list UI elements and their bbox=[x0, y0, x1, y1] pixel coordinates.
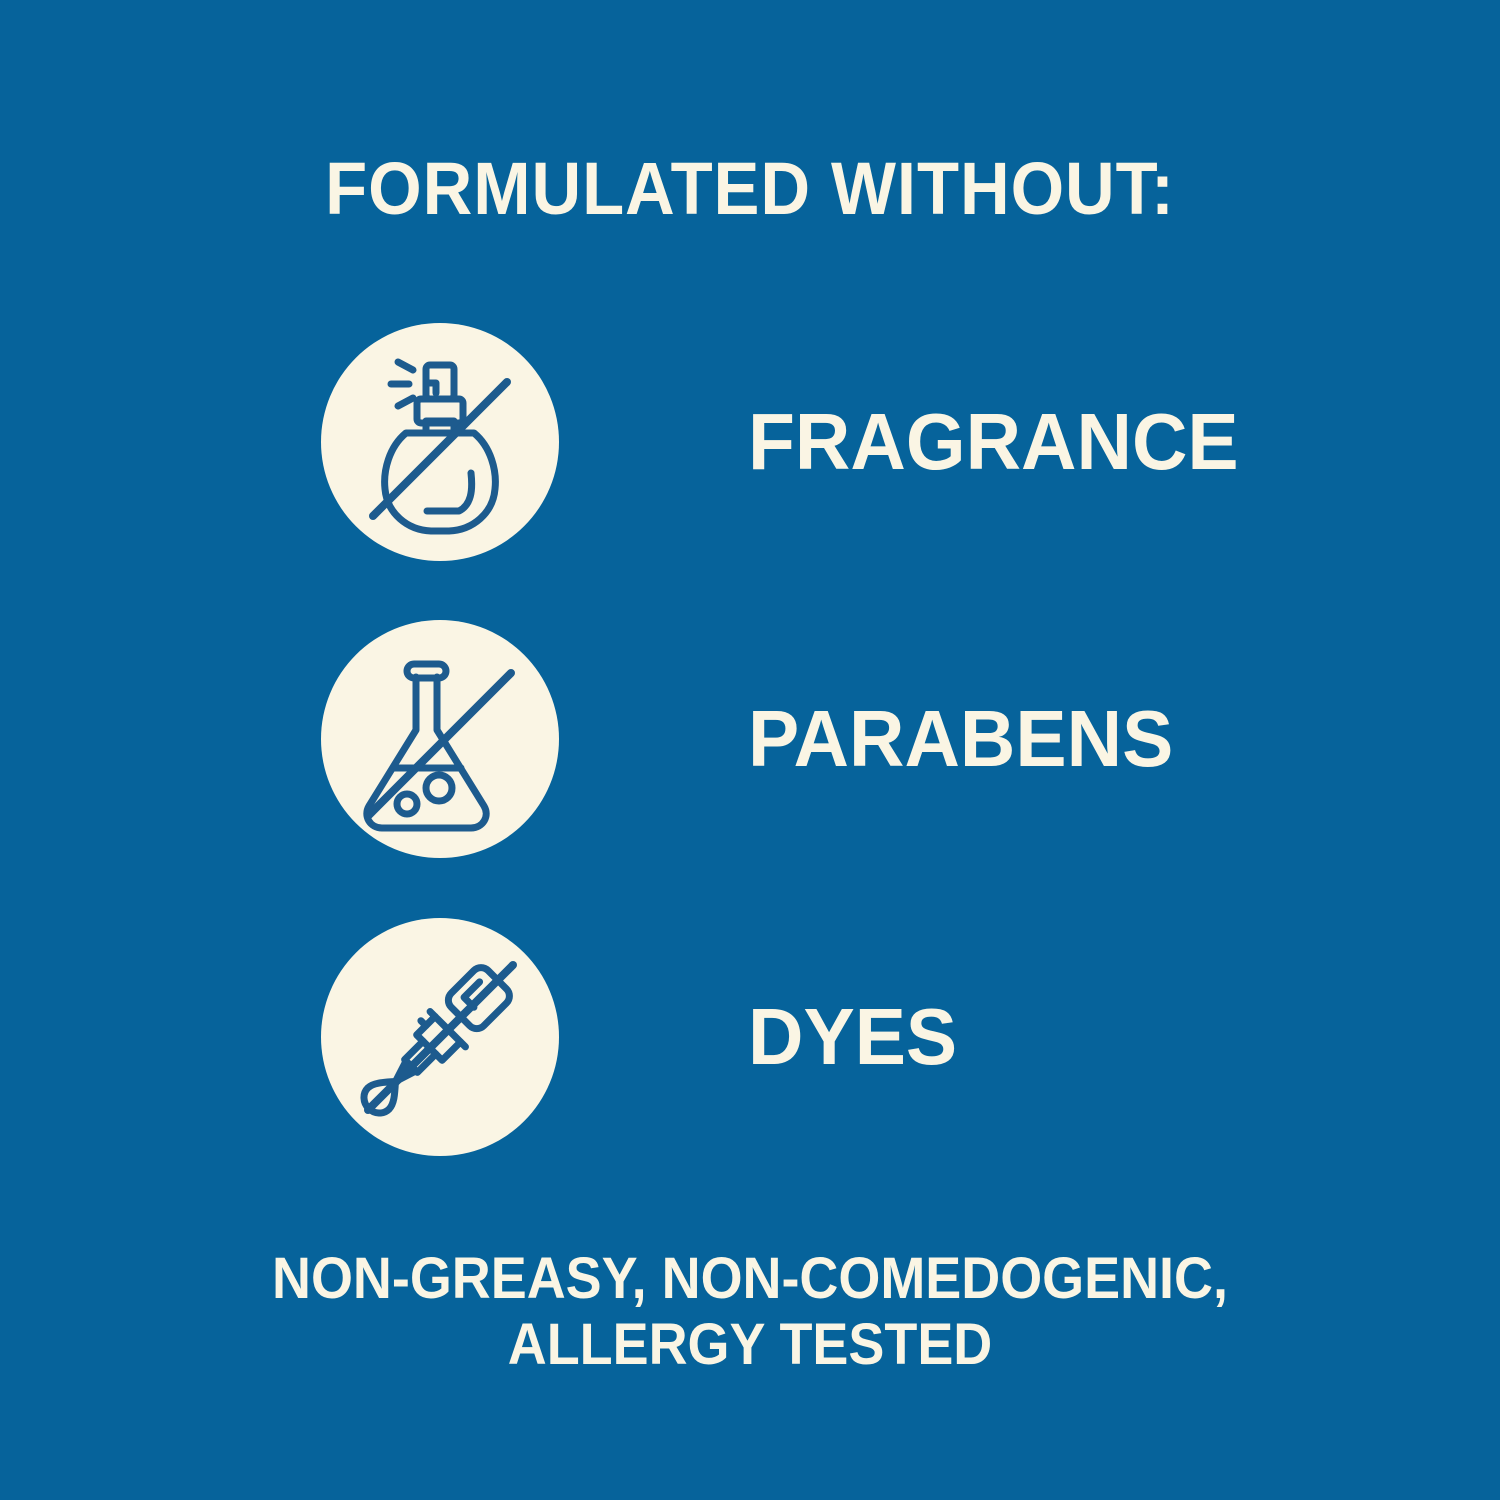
no-dyes-icon bbox=[321, 918, 559, 1156]
no-parabens-icon bbox=[321, 620, 559, 858]
no-fragrance-badge bbox=[321, 323, 559, 561]
claim-row-parabens: PARABENS bbox=[0, 620, 1500, 860]
footer-line-1: NON-GREASY, NON-COMEDOGENIC, bbox=[53, 1246, 1448, 1312]
page-title: FORMULATED WITHOUT: bbox=[53, 152, 1448, 226]
formulated-without-panel: FORMULATED WITHOUT: bbox=[0, 0, 1500, 1500]
footer-line-2: ALLERGY TESTED bbox=[53, 1312, 1448, 1378]
claim-label-dyes: DYES bbox=[748, 918, 957, 1156]
footer-claims: NON-GREASY, NON-COMEDOGENIC, ALLERGY TES… bbox=[53, 1246, 1448, 1378]
no-dyes-badge bbox=[321, 918, 559, 1156]
no-fragrance-icon bbox=[321, 323, 559, 561]
claim-label-fragrance: FRAGRANCE bbox=[748, 323, 1239, 561]
claim-row-dyes: DYES bbox=[0, 918, 1500, 1158]
claim-label-parabens: PARABENS bbox=[748, 620, 1173, 858]
no-parabens-badge bbox=[321, 620, 559, 858]
claim-row-fragrance: FRAGRANCE bbox=[0, 323, 1500, 563]
